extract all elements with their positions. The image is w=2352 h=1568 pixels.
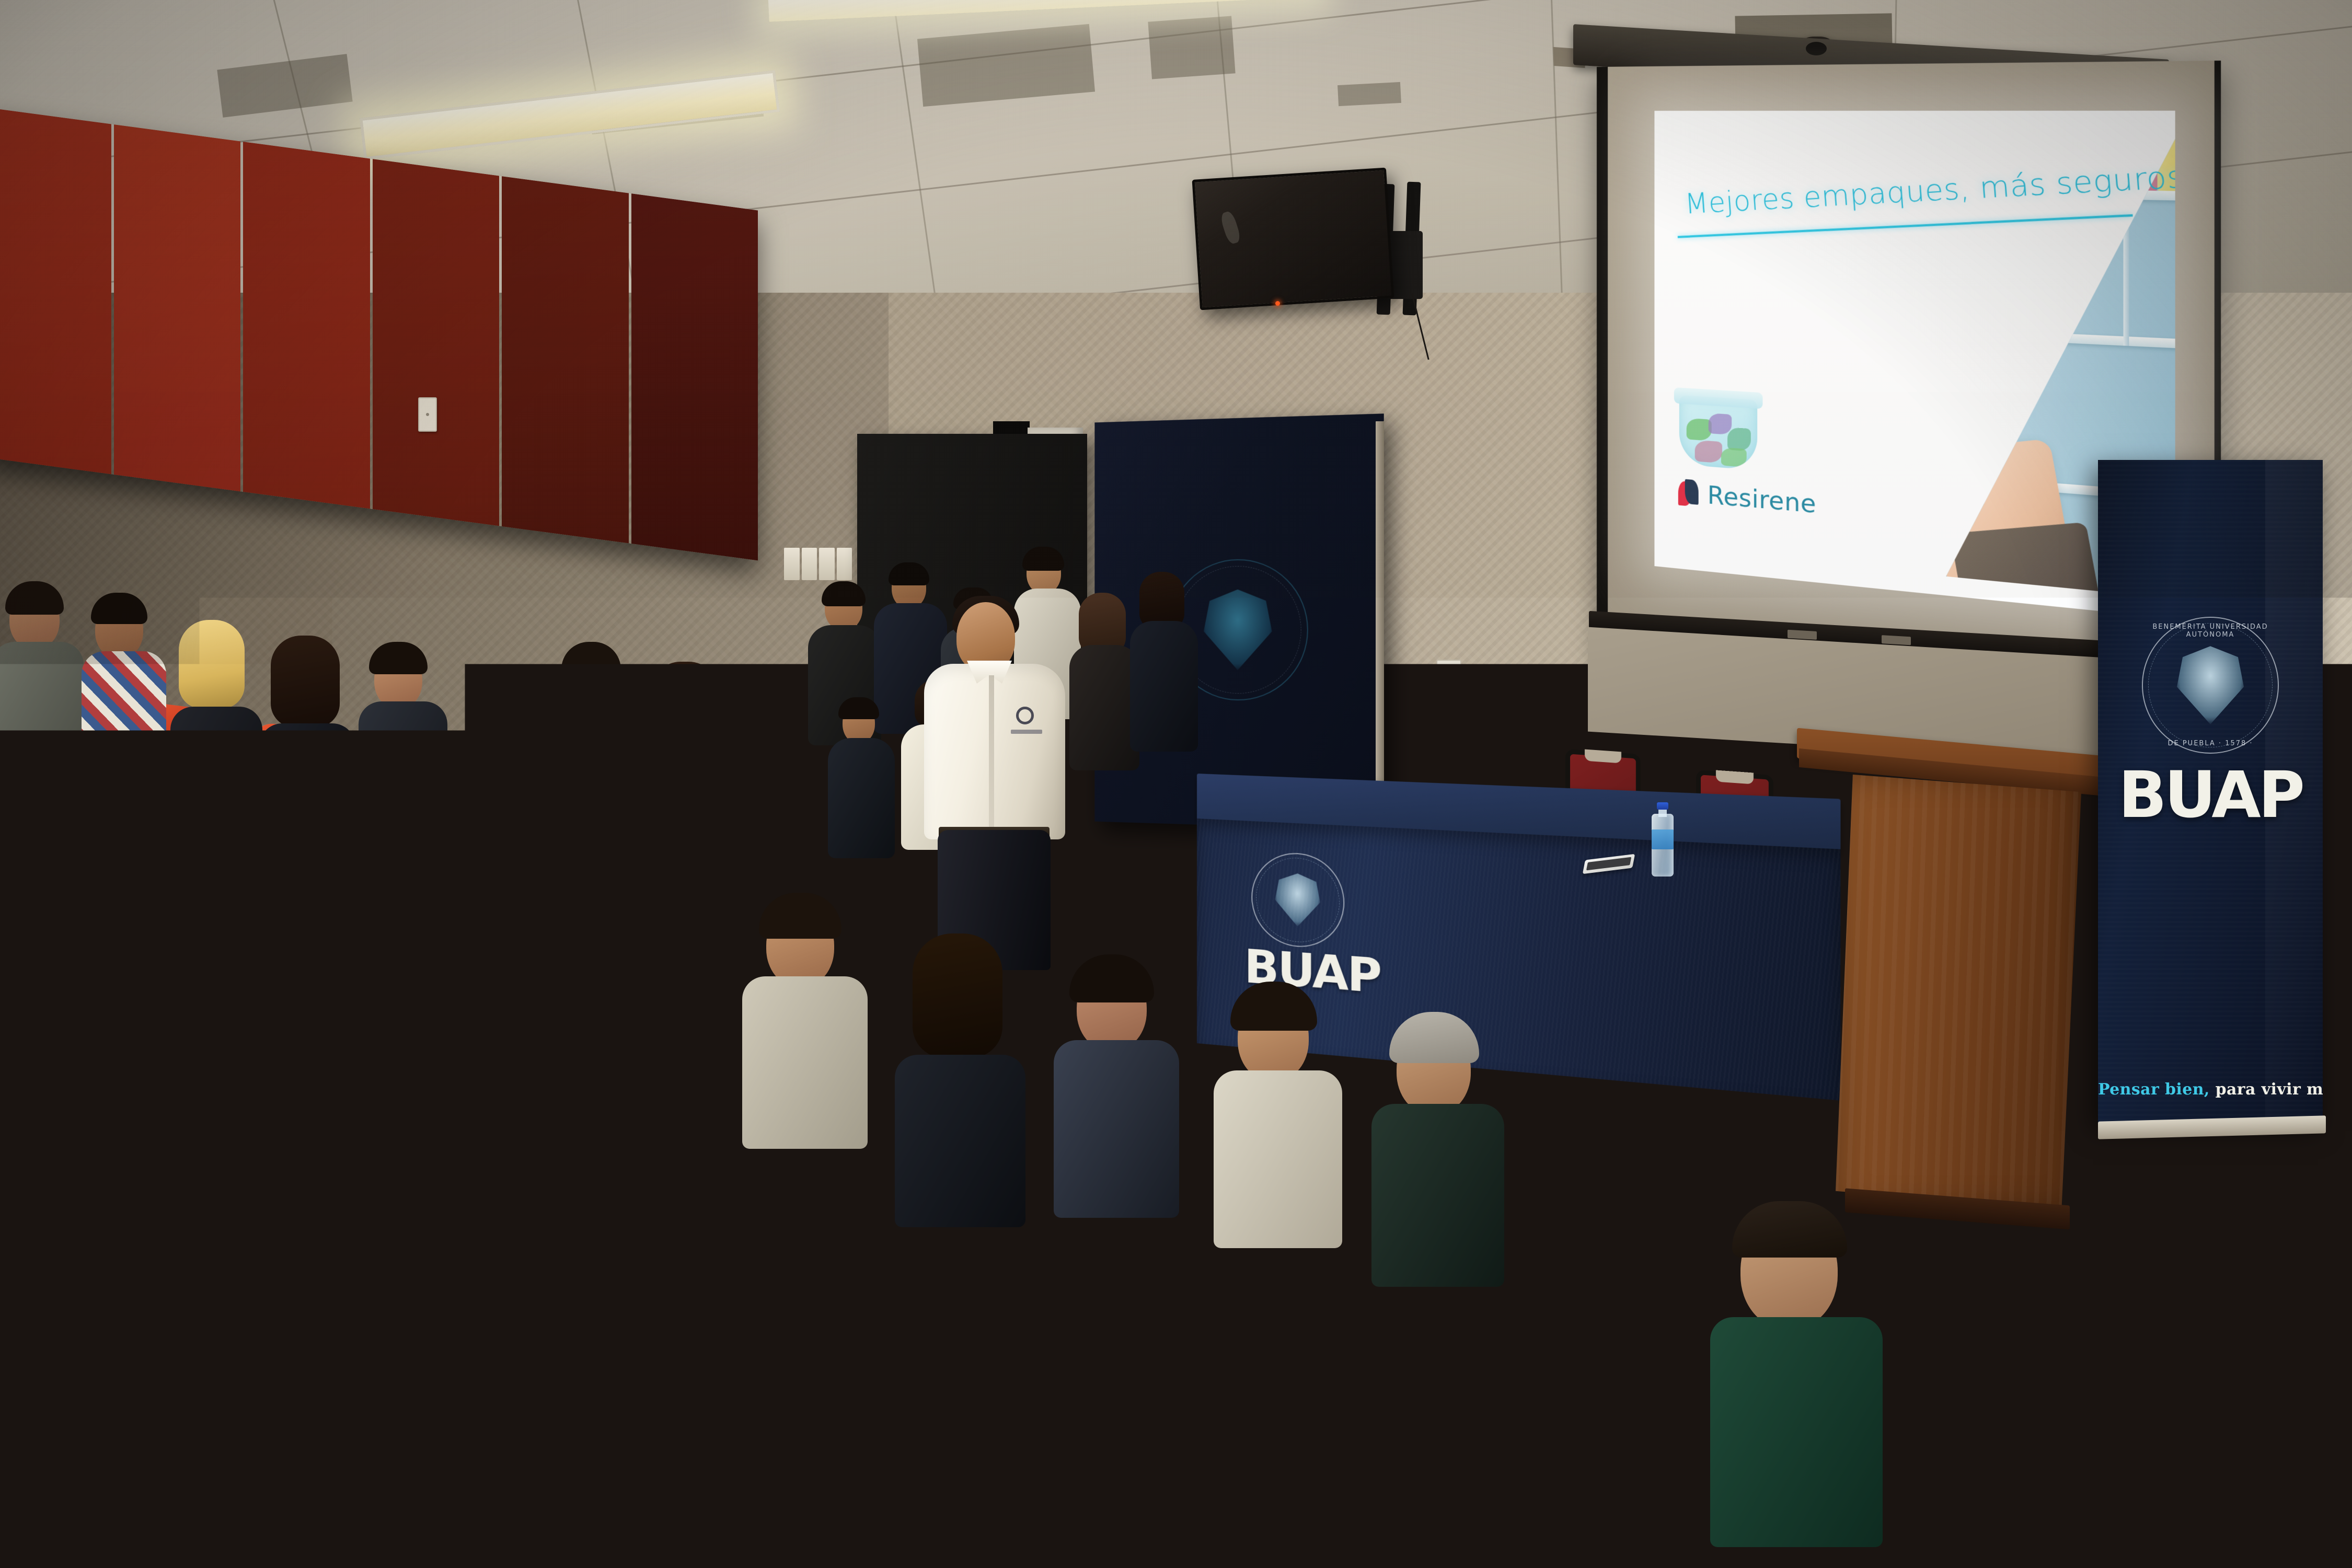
screen-glare: [1219, 210, 1242, 245]
resirene-mark-icon: [1678, 479, 1701, 509]
presenter-pocket-logo-icon: [1016, 707, 1034, 724]
tagline-accent: Pensar bien,: [2098, 1080, 2210, 1099]
projected-slide: Mejores empaques, más seguros Resirene: [1654, 111, 2175, 619]
slide-salad-container-image: [1674, 381, 1763, 473]
tagline-rest: para vivir mejor: [2210, 1080, 2323, 1099]
water-bottle[interactable]: [1652, 802, 1674, 877]
banner-tagline: Pensar bien, para vivir mejor: [2098, 1080, 2323, 1099]
slide-resirene-logo: Resirene: [1678, 478, 1816, 519]
seal-text-top: BENEMÉRITA UNIVERSIDAD AUTÓNOMA: [2143, 623, 2278, 639]
lectern-body: [1836, 775, 2081, 1208]
fluorescent-ceiling-light: [360, 70, 780, 159]
projector-lens-icon: [1806, 42, 1827, 55]
buap-rollup-banner: BENEMÉRITA UNIVERSIDAD AUTÓNOMA DE PUEBL…: [2098, 460, 2323, 1124]
buap-seal-icon: BENEMÉRITA UNIVERSIDAD AUTÓNOMA DE PUEBL…: [2142, 617, 2279, 754]
resirene-wordmark: Resirene: [1708, 480, 1816, 519]
partition-edge: [1376, 421, 1384, 819]
seal-text-bottom: DE PUEBLA · 1578 ·: [2143, 740, 2278, 747]
tv-standby-led-icon: [1275, 301, 1280, 306]
presenter-pocket-text: [1011, 730, 1042, 734]
slide-title: Mejores empaques, más seguros: [1684, 164, 2118, 221]
lectern[interactable]: [1808, 742, 2112, 1270]
fluorescent-ceiling-light-2: [768, 0, 1317, 22]
presenter-shirt-placket: [989, 675, 994, 832]
auditorium-presentation-photo: Mejores empaques, más seguros Resirene: [0, 0, 2352, 1568]
buap-seal-icon: [1251, 851, 1344, 950]
banner-buap-wordmark: BUAP: [2098, 758, 2323, 832]
presenter: [924, 602, 1065, 968]
presenter-shirt: [924, 664, 1065, 839]
slide-title-underline: [1678, 214, 2133, 238]
wall-mounted-tv[interactable]: [1192, 168, 1394, 310]
wall-outlet[interactable]: [1436, 660, 1461, 692]
light-switch-plate[interactable]: [418, 397, 437, 432]
